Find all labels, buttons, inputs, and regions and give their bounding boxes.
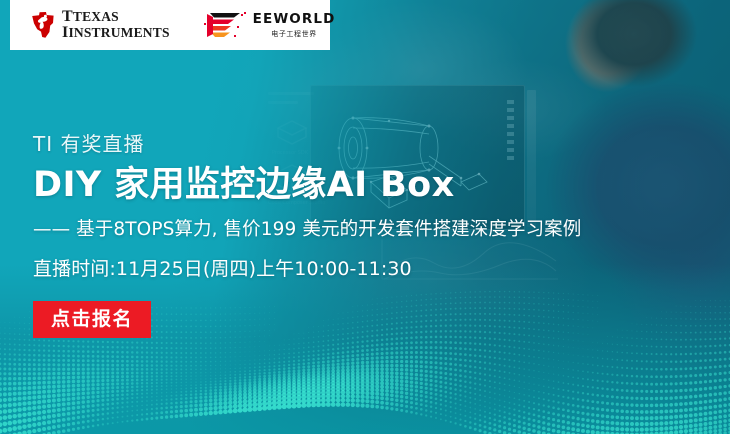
eeworld-wordmark: EEWORLD 电子工程世界 (253, 11, 336, 39)
ti-line1: TEXAS (73, 9, 119, 24)
logo-header-bar: TTEXAS IINSTRUMENTS (10, 0, 330, 50)
ti-texas-icon (30, 11, 56, 39)
ti-line2: INSTRUMENTS (68, 25, 169, 40)
ti-line1-first: T (62, 8, 73, 25)
livestream-promo-banner: Processor SDK Code Composer Studio (0, 0, 730, 434)
eeworld-name: EEWORLD (253, 11, 336, 27)
register-button[interactable]: 点击报名 (33, 301, 151, 339)
page-title: DIY 家用监控边缘AI Box (33, 167, 673, 205)
eeworld-subtitle: 电子工程世界 (253, 29, 336, 39)
eeworld-logo: EEWORLD 电子工程世界 (204, 10, 336, 40)
eeworld-e-icon (204, 10, 248, 40)
promo-copy-block: TI 有奖直播 DIY 家用监控边缘AI Box —— 基于8TOPS算力, 售… (33, 128, 673, 338)
texas-instruments-logo: TTEXAS IINSTRUMENTS (30, 9, 170, 40)
ti-wordmark: TTEXAS IINSTRUMENTS (62, 9, 170, 40)
subtitle-text: —— 基于8TOPS算力, 售价199 美元的开发套件搭建深度学习案例 (33, 215, 673, 241)
eyebrow-text: TI 有奖直播 (33, 128, 673, 157)
broadcast-time-text: 直播时间:11月25日(周四)上午10:00-11:30 (33, 254, 673, 281)
